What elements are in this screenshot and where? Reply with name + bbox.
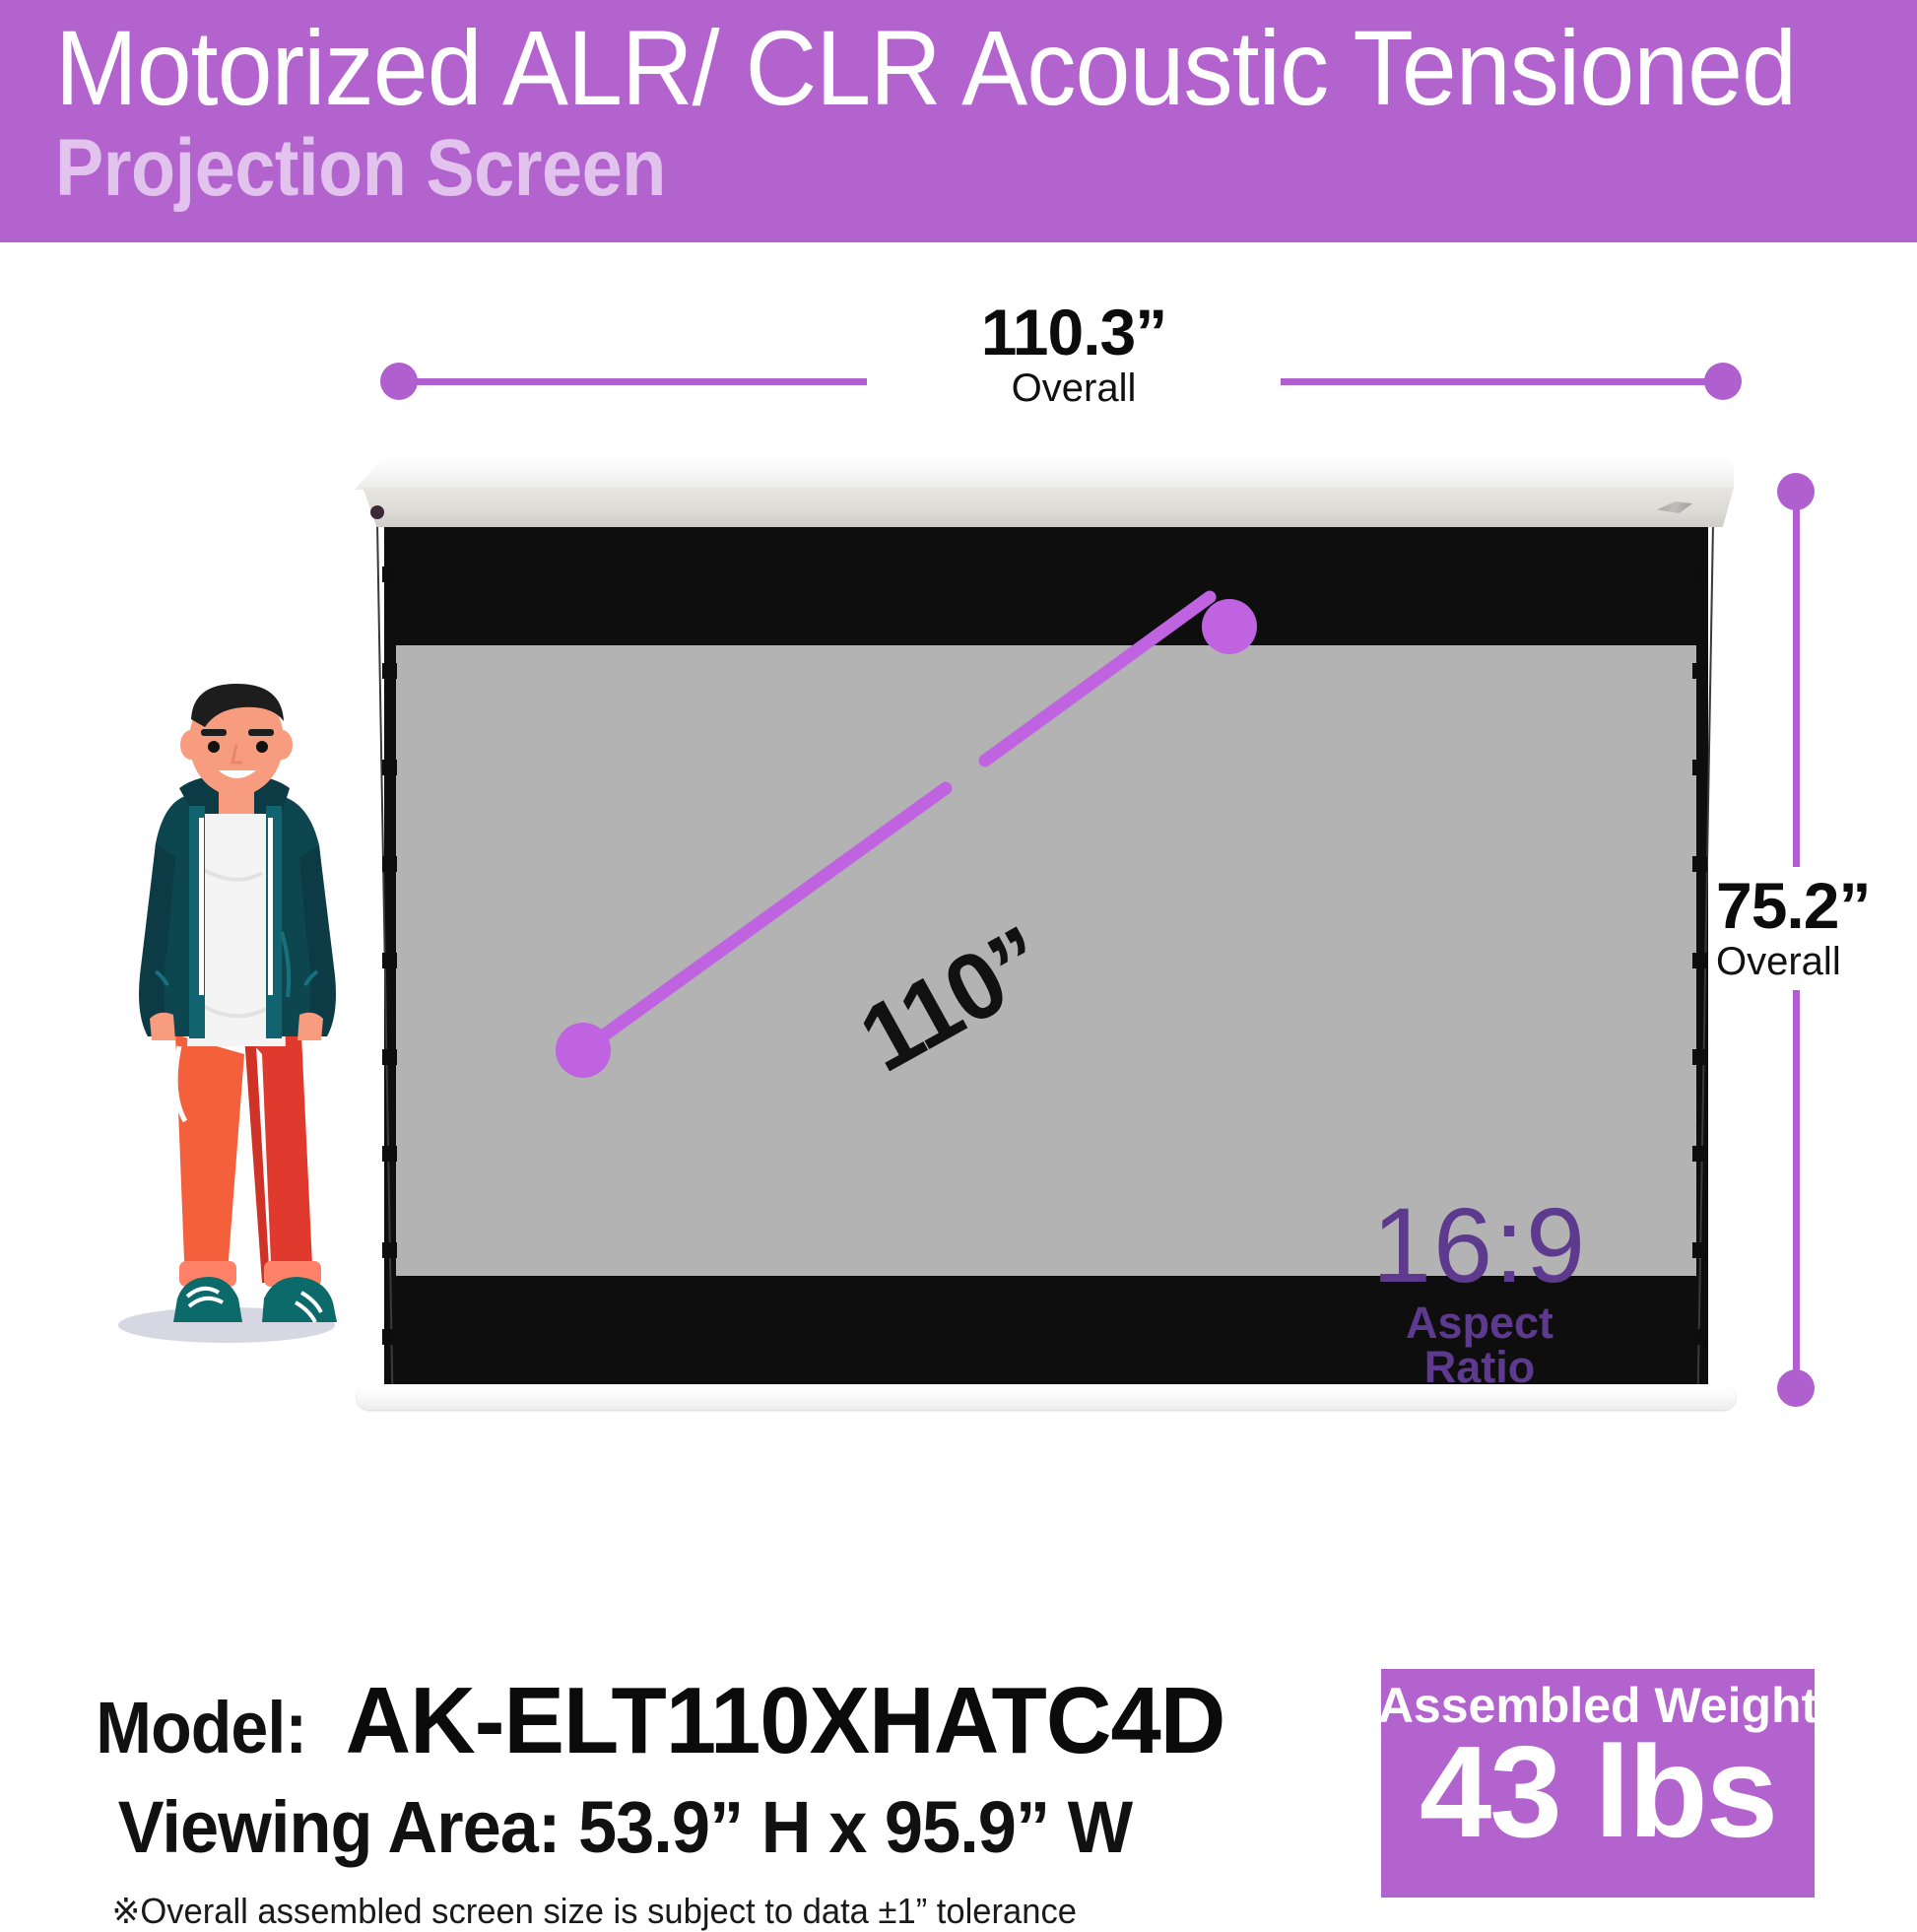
tension-tab-left: [382, 1146, 397, 1162]
figure-left-leg: [175, 1034, 244, 1286]
figure-drawstring-right: [268, 818, 273, 995]
model-label: Model:: [96, 1686, 306, 1769]
header-banner: Motorized ALR/ CLR Acoustic Tensioned Pr…: [0, 0, 1917, 242]
product-info-block: Model: AK-ELT110XHATC4D Viewing Area: 53…: [87, 1667, 1338, 1932]
figure-right-ear: [271, 730, 293, 760]
figure-left-eyebrow: [201, 729, 227, 736]
tension-tab-right: [1692, 1329, 1707, 1345]
model-number: AK-ELT110XHATC4D: [346, 1667, 1225, 1775]
figure-left-eye: [208, 741, 220, 753]
figure-left-hand: [150, 1013, 175, 1040]
width-value: 110.3”: [891, 300, 1257, 365]
tension-tab-right: [1692, 856, 1707, 872]
viewing-area-text: Viewing Area: 53.9” H x 95.9” W: [118, 1785, 1307, 1869]
tolerance-note: ※Overall assembled screen size is subjec…: [111, 1891, 1312, 1932]
figure-right-eye: [256, 741, 268, 753]
width-dimension-label: 110.3” Overall: [867, 296, 1281, 415]
page-subtitle: Projection Screen: [55, 128, 1731, 209]
tension-tab-left: [382, 953, 397, 968]
tension-tab-right: [1692, 1146, 1707, 1162]
width-sublabel: Overall: [891, 366, 1257, 411]
tension-tab-right: [1692, 760, 1707, 775]
height-sublabel: Overall: [1716, 940, 1917, 984]
aspect-ratio-label: Aspect Ratio: [1352, 1300, 1608, 1389]
screen-motor-casing: [355, 458, 1734, 529]
aspect-ratio-value: 16:9: [1352, 1194, 1608, 1297]
tension-tab-right: [1692, 566, 1707, 582]
figure-left-ear: [180, 730, 202, 760]
tension-tab-right: [1692, 1049, 1707, 1065]
weight-badge-value: 43 lbs: [1420, 1727, 1776, 1857]
figure-right-hand: [297, 1013, 323, 1040]
figure-right-eyebrow: [248, 729, 274, 736]
ir-receiver-icon: [370, 505, 384, 519]
height-dimension-endpoint-bottom: [1777, 1369, 1815, 1407]
tension-tab-left: [382, 856, 397, 872]
model-line: Model: AK-ELT110XHATC4D: [87, 1667, 1338, 1775]
casing-top-face: [355, 458, 1734, 490]
tension-tab-left: [382, 566, 397, 582]
screen-viewing-area: [396, 645, 1696, 1276]
tension-tab-left: [382, 663, 397, 679]
aspect-ratio-badge: 16:9 Aspect Ratio: [1352, 1194, 1608, 1389]
height-value: 75.2”: [1716, 873, 1917, 938]
tension-tab-left: [382, 760, 397, 775]
height-dimension-endpoint-top: [1777, 473, 1815, 510]
width-dimension-endpoint-left: [380, 363, 418, 400]
figure-drawstring-left: [199, 818, 204, 995]
tension-tab-left: [382, 1329, 397, 1345]
tension-tab-right: [1692, 663, 1707, 679]
casing-front-face: [355, 488, 1734, 527]
tension-tab-right: [1692, 1242, 1707, 1258]
width-dimension-endpoint-right: [1704, 363, 1742, 400]
scale-figure-illustration: [69, 680, 384, 1350]
tension-tab-left: [382, 1242, 397, 1258]
tension-tab-left: [382, 1049, 397, 1065]
assembled-weight-badge: Assembled Weight 43 lbs: [1381, 1669, 1815, 1898]
tension-tab-right: [1692, 953, 1707, 968]
page-title: Motorized ALR/ CLR Acoustic Tensioned: [55, 12, 1787, 124]
